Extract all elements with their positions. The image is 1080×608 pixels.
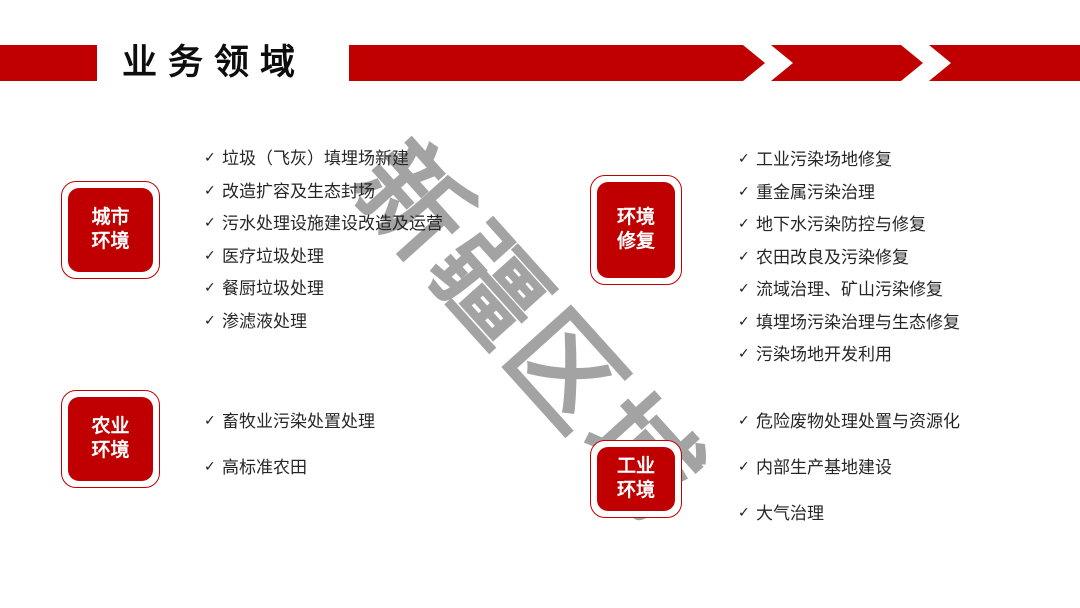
- list-item: ✓ 填埋场污染治理与生态修复: [738, 314, 960, 331]
- list-item-label: 污染场地开发利用: [756, 346, 892, 363]
- list-item: ✓ 工业污染场地修复: [738, 151, 960, 168]
- list-item-label: 流域治理、矿山污染修复: [756, 281, 943, 298]
- list-item-label: 改造扩容及生态封场: [222, 183, 375, 200]
- badge-environment-restoration[interactable]: 环境 修复: [590, 175, 682, 285]
- check-icon: ✓: [204, 313, 222, 329]
- list-item: ✓ 餐厨垃圾处理: [204, 280, 443, 297]
- list-item-label: 医疗垃圾处理: [222, 248, 324, 265]
- badge-label-line1: 工业: [617, 455, 655, 479]
- badge-label-line1: 农业: [91, 415, 129, 439]
- check-icon: ✓: [204, 248, 222, 264]
- check-icon: ✓: [738, 459, 756, 475]
- list-item-label: 重金属污染治理: [756, 184, 875, 201]
- list-item-label: 畜牧业污染处置处理: [222, 413, 375, 430]
- check-icon: ✓: [204, 280, 222, 296]
- list-item: ✓ 农田改良及污染修复: [738, 249, 960, 266]
- badge-label-line2: 环境: [617, 479, 655, 503]
- page-title: 业务领域: [122, 34, 306, 85]
- check-icon: ✓: [204, 183, 222, 199]
- header-chevron-3: [929, 45, 1080, 81]
- list-item-label: 餐厨垃圾处理: [222, 280, 324, 297]
- badge-label-line2: 环境: [91, 230, 129, 254]
- list-environment-restoration: ✓ 工业污染场地修复 ✓ 重金属污染治理 ✓ 地下水污染防控与修复 ✓ 农田改良…: [738, 151, 960, 379]
- badge-label-line2: 修复: [617, 230, 655, 254]
- badge-label-line2: 环境: [91, 439, 129, 463]
- list-item: ✓ 危险废物处理处置与资源化: [738, 413, 960, 430]
- check-icon: ✓: [738, 281, 756, 297]
- list-industrial-environment: ✓ 危险废物处理处置与资源化 ✓ 内部生产基地建设 ✓ 大气治理: [738, 413, 960, 551]
- list-item-label: 大气治理: [756, 505, 824, 522]
- list-item: ✓ 重金属污染治理: [738, 184, 960, 201]
- list-item: ✓ 医疗垃圾处理: [204, 248, 443, 265]
- check-icon: ✓: [204, 215, 222, 231]
- list-item: ✓ 畜牧业污染处置处理: [204, 413, 375, 430]
- list-item-label: 渗滤液处理: [222, 313, 307, 330]
- badge-city-environment-inner: 城市 环境: [68, 188, 153, 272]
- check-icon: ✓: [204, 459, 222, 475]
- list-item-label: 危险废物处理处置与资源化: [756, 413, 960, 430]
- check-icon: ✓: [738, 314, 756, 330]
- list-item-label: 垃圾（飞灰）填埋场新建: [222, 150, 409, 167]
- list-item-label: 填埋场污染治理与生态修复: [756, 314, 960, 331]
- list-item: ✓ 改造扩容及生态封场: [204, 183, 443, 200]
- badge-label-line1: 环境: [617, 206, 655, 230]
- badge-label-line1: 城市: [91, 206, 129, 230]
- check-icon: ✓: [738, 216, 756, 232]
- badge-agriculture-environment[interactable]: 农业 环境: [61, 390, 160, 488]
- badge-agriculture-environment-inner: 农业 环境: [68, 397, 153, 481]
- header-bar-left: [0, 45, 97, 81]
- list-item-label: 地下水污染防控与修复: [756, 216, 926, 233]
- header-chevron-1: [349, 45, 765, 81]
- check-icon: ✓: [204, 413, 222, 429]
- badge-city-environment[interactable]: 城市 环境: [61, 181, 160, 279]
- check-icon: ✓: [204, 150, 222, 166]
- check-icon: ✓: [738, 151, 756, 167]
- list-item: ✓ 垃圾（飞灰）填埋场新建: [204, 150, 443, 167]
- list-item: ✓ 流域治理、矿山污染修复: [738, 281, 960, 298]
- badge-industrial-environment-inner: 工业 环境: [597, 447, 675, 511]
- badge-environment-restoration-inner: 环境 修复: [597, 182, 675, 278]
- list-item: ✓ 渗滤液处理: [204, 313, 443, 330]
- check-icon: ✓: [738, 505, 756, 521]
- check-icon: ✓: [738, 346, 756, 362]
- check-icon: ✓: [738, 413, 756, 429]
- check-icon: ✓: [738, 184, 756, 200]
- list-agriculture-environment: ✓ 畜牧业污染处置处理 ✓ 高标准农田: [204, 413, 375, 505]
- list-item-label: 农田改良及污染修复: [756, 249, 909, 266]
- check-icon: ✓: [738, 249, 756, 265]
- list-item: ✓ 地下水污染防控与修复: [738, 216, 960, 233]
- badge-industrial-environment[interactable]: 工业 环境: [590, 440, 682, 518]
- list-item-label: 工业污染场地修复: [756, 151, 892, 168]
- list-item-label: 内部生产基地建设: [756, 459, 892, 476]
- list-item: ✓ 大气治理: [738, 505, 960, 522]
- list-item: ✓ 高标准农田: [204, 459, 375, 476]
- list-item-label: 污水处理设施建设改造及运营: [222, 215, 443, 232]
- header-chevron-2: [771, 45, 923, 81]
- list-item: ✓ 污水处理设施建设改造及运营: [204, 215, 443, 232]
- list-item: ✓ 内部生产基地建设: [738, 459, 960, 476]
- list-city-environment: ✓ 垃圾（飞灰）填埋场新建 ✓ 改造扩容及生态封场 ✓ 污水处理设施建设改造及运…: [204, 150, 443, 345]
- list-item: ✓ 污染场地开发利用: [738, 346, 960, 363]
- list-item-label: 高标准农田: [222, 459, 307, 476]
